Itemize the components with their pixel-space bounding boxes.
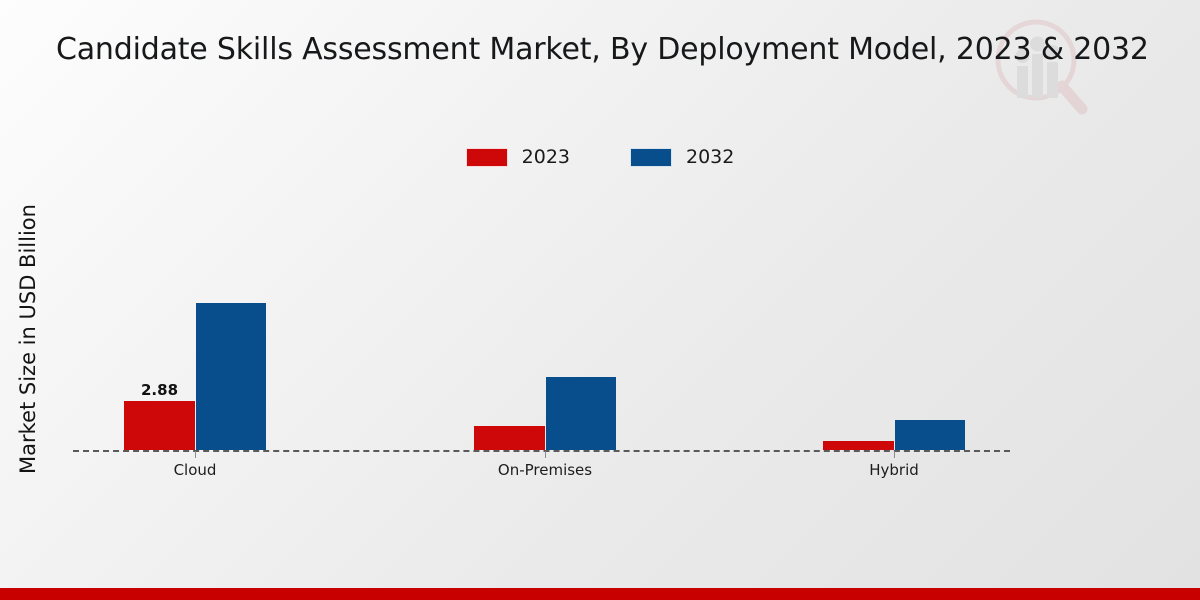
bar-value-cloud-2023: 2.88 [141,381,178,399]
bar-on-premises-2032[interactable] [546,377,616,450]
tick-hybrid [894,451,895,458]
footer-accent-bar [0,588,1200,600]
bar-cloud-2023[interactable] [124,401,195,450]
y-axis-title: Market Size in USD Billion [16,169,40,509]
category-label-hybrid: Hybrid [869,461,919,479]
tick-on-premises [545,451,546,458]
plot-area: 2.88 Cloud On-Premises Hybrid [0,0,1200,600]
bar-cloud-2032[interactable] [196,303,266,450]
tick-cloud [195,451,196,458]
x-axis-baseline [73,450,1010,452]
category-label-cloud: Cloud [174,461,217,479]
bar-hybrid-2023[interactable] [823,441,894,450]
bar-on-premises-2023[interactable] [474,426,545,450]
chart-page: Candidate Skills Assessment Market, By D… [0,0,1200,600]
category-label-on-premises: On-Premises [498,461,592,479]
bar-hybrid-2032[interactable] [895,420,965,450]
